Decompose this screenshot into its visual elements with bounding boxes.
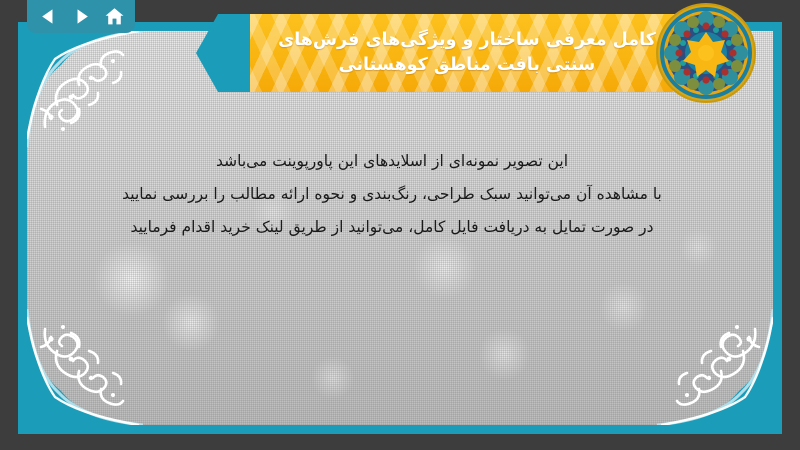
slide-title-banner: کامل معرفی ساختار و ویژگی‌های فرش‌های سن… bbox=[196, 14, 716, 92]
corner-arabesque-bottom-right-icon bbox=[657, 309, 773, 425]
triangle-right-icon bbox=[72, 7, 91, 26]
slide-navigation-bar bbox=[27, 0, 135, 33]
banner-arrow-shape bbox=[196, 14, 258, 92]
slide-body-text: این تصویر نمونه‌ای از اسلایدهای این پاور… bbox=[57, 149, 727, 240]
body-line-2: با مشاهده آن می‌توانید سبک طراحی، رنگ‌بن… bbox=[57, 182, 727, 207]
next-slide-button[interactable] bbox=[68, 4, 94, 30]
banner-body: کامل معرفی ساختار و ویژگی‌های فرش‌های سن… bbox=[250, 14, 716, 92]
home-icon bbox=[104, 6, 125, 27]
page-title: کامل معرفی ساختار و ویژگی‌های فرش‌های سن… bbox=[278, 28, 656, 78]
presentation-viewer: این تصویر نمونه‌ای از اسلایدهای این پاور… bbox=[0, 0, 800, 450]
corner-arabesque-bottom-left-icon bbox=[27, 309, 143, 425]
page-title-line-2: سنتی بافت مناطق کوهستانی bbox=[278, 53, 656, 78]
body-line-3: در صورت تمایل به دریافت فایل کامل، می‌تو… bbox=[57, 215, 727, 240]
page-title-line-1: کامل معرفی ساختار و ویژگی‌های فرش‌های bbox=[278, 28, 656, 53]
triangle-left-icon bbox=[39, 7, 58, 26]
home-button[interactable] bbox=[101, 4, 127, 30]
body-line-1: این تصویر نمونه‌ای از اسلایدهای این پاور… bbox=[57, 149, 727, 174]
corner-arabesque-top-left-icon bbox=[27, 31, 143, 147]
persian-medallion-ornament-icon bbox=[655, 2, 757, 104]
previous-slide-button[interactable] bbox=[35, 4, 61, 30]
